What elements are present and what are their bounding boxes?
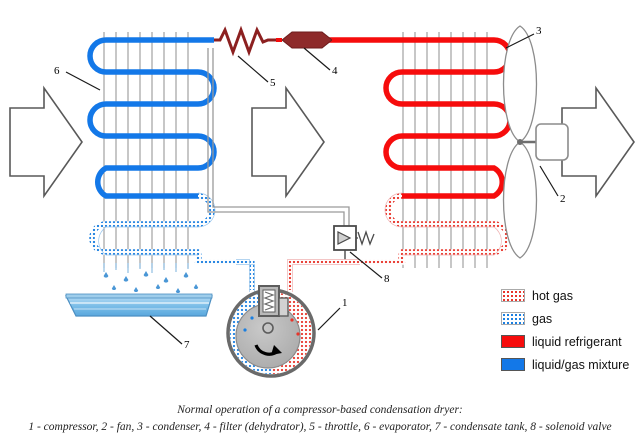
condenser-coil-hotgas (360, 196, 508, 262)
legend-swatch-gas (501, 312, 525, 325)
legend-label-hot-gas: hot gas (532, 290, 573, 303)
legend-swatch-liquid-refrigerant (501, 335, 525, 348)
condenser-fins (403, 32, 487, 268)
discharge-line-outline (288, 260, 361, 293)
callout-4: 4 (332, 65, 338, 77)
dryer-schematic: 6 2 3 4 5 1 7 8 (0, 0, 640, 444)
legend-swatch-hot-gas (501, 289, 525, 302)
caption-legend: 1 - compressor, 2 - fan, 3 - condenser, … (0, 421, 640, 433)
callout-5: 5 (270, 77, 276, 89)
throttle (214, 30, 276, 52)
legend-label-liquid-gas-mixture: liquid/gas mixture (532, 359, 629, 372)
diagram-canvas: 6 2 3 4 5 1 7 8 hot gas gas liquid refri… (0, 0, 640, 444)
legend-label-liquid-refrigerant: liquid refrigerant (532, 336, 622, 349)
condensate-tank (66, 294, 212, 316)
callout-8: 8 (384, 273, 390, 285)
legend-swatch-liquid-gas-mixture (501, 358, 525, 371)
callout-1: 1 (342, 297, 348, 309)
callout-6: 6 (54, 65, 60, 77)
legend-label-gas: gas (532, 313, 552, 326)
callout-7: 7 (184, 339, 190, 351)
callout-3: 3 (536, 25, 542, 37)
filter-dehydrator (276, 32, 344, 48)
solenoid-valve (334, 226, 374, 262)
compressor (228, 286, 314, 376)
callout-2: 2 (560, 193, 566, 205)
condenser-coil-liquid (318, 40, 510, 196)
evaporator-fins (104, 32, 188, 268)
fan (504, 26, 569, 258)
inlet-arrow (10, 88, 82, 196)
outlet-arrow (562, 88, 634, 196)
middle-arrow (252, 88, 324, 196)
discharge-line (290, 262, 360, 290)
caption-title: Normal operation of a compressor-based c… (0, 404, 640, 416)
condensate-droplets (104, 263, 199, 293)
